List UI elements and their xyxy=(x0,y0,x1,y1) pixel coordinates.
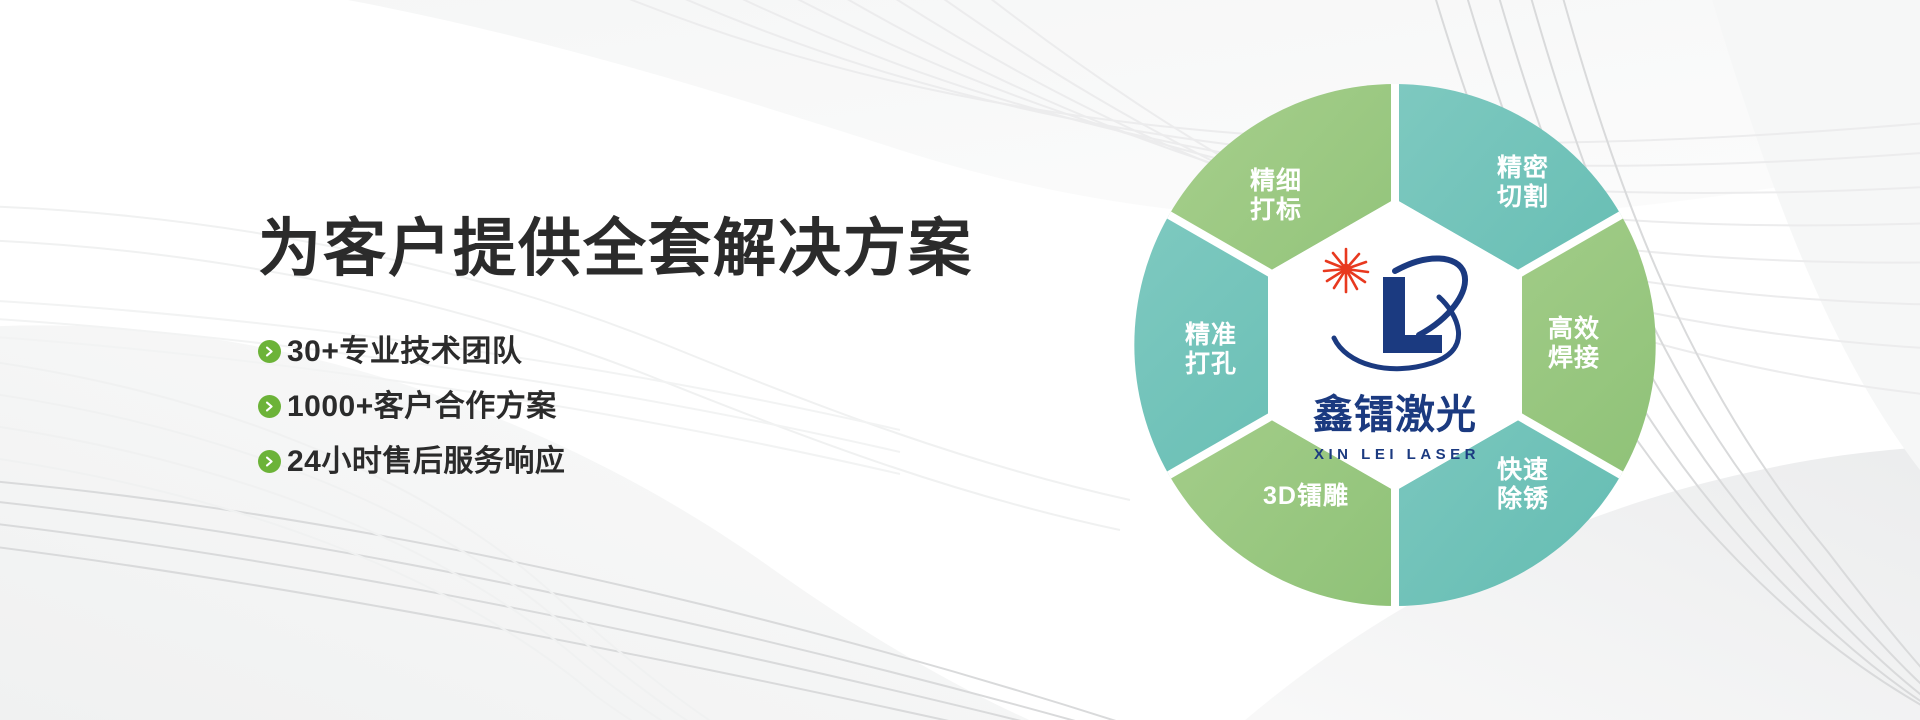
logo-english-name: XIN LEI LASER xyxy=(1314,446,1480,463)
feature-list: 30+专业技术团队 1000+客户合作方案 24小时售后服务响应 xyxy=(258,329,1018,485)
seg-precision-drilling-label-line2: 打孔 xyxy=(1185,350,1237,378)
seg-precision-cutting-label-line1: 精密 xyxy=(1497,153,1549,182)
list-item-label: 24小时售后服务响应 xyxy=(287,447,565,477)
promo-banner: 为客户提供全套解决方案 30+专业技术团队 1000+客户合作方案 xyxy=(0,0,1920,720)
seg-3d-engraving-label-line1: 3D镭雕 xyxy=(1263,482,1349,510)
seg-precision-cutting-label-line2: 切割 xyxy=(1497,182,1549,211)
service-wheel-diagram: 精细 打标 精密 切割 高效 焊接 快速 除锈 3D镭雕 精准 打孔 xyxy=(1131,81,1659,609)
seg-efficient-welding-label-line2: 焊接 xyxy=(1548,344,1600,372)
list-item: 24小时售后服务响应 xyxy=(258,439,1018,485)
text-block: 为客户提供全套解决方案 30+专业技术团队 1000+客户合作方案 xyxy=(258,214,1018,494)
page-title: 为客户提供全套解决方案 xyxy=(258,214,1018,285)
decor-blob-right xyxy=(1700,0,1920,470)
seg-fine-marking-label-line1: 精细 xyxy=(1250,166,1302,195)
seg-efficient-welding-label-line1: 高效 xyxy=(1548,314,1600,343)
seg-fine-marking-label-line2: 打标 xyxy=(1250,196,1302,224)
seg-fast-derusting-label-line1: 快速 xyxy=(1497,456,1549,484)
list-item: 1000+客户合作方案 xyxy=(258,384,1018,430)
seg-fast-derusting-label-line2: 除锈 xyxy=(1497,484,1549,513)
list-item-label: 1000+客户合作方案 xyxy=(287,392,557,422)
seg-precision-drilling-label-line1: 精准 xyxy=(1185,321,1237,349)
list-item: 30+专业技术团队 xyxy=(258,329,1018,375)
list-item-label: 30+专业技术团队 xyxy=(287,337,522,367)
logo-chinese-name: 鑫镭激光 xyxy=(1313,392,1477,437)
chevron-right-circle-icon xyxy=(258,395,281,418)
chevron-right-circle-icon xyxy=(258,450,281,473)
chevron-right-circle-icon xyxy=(258,340,281,363)
